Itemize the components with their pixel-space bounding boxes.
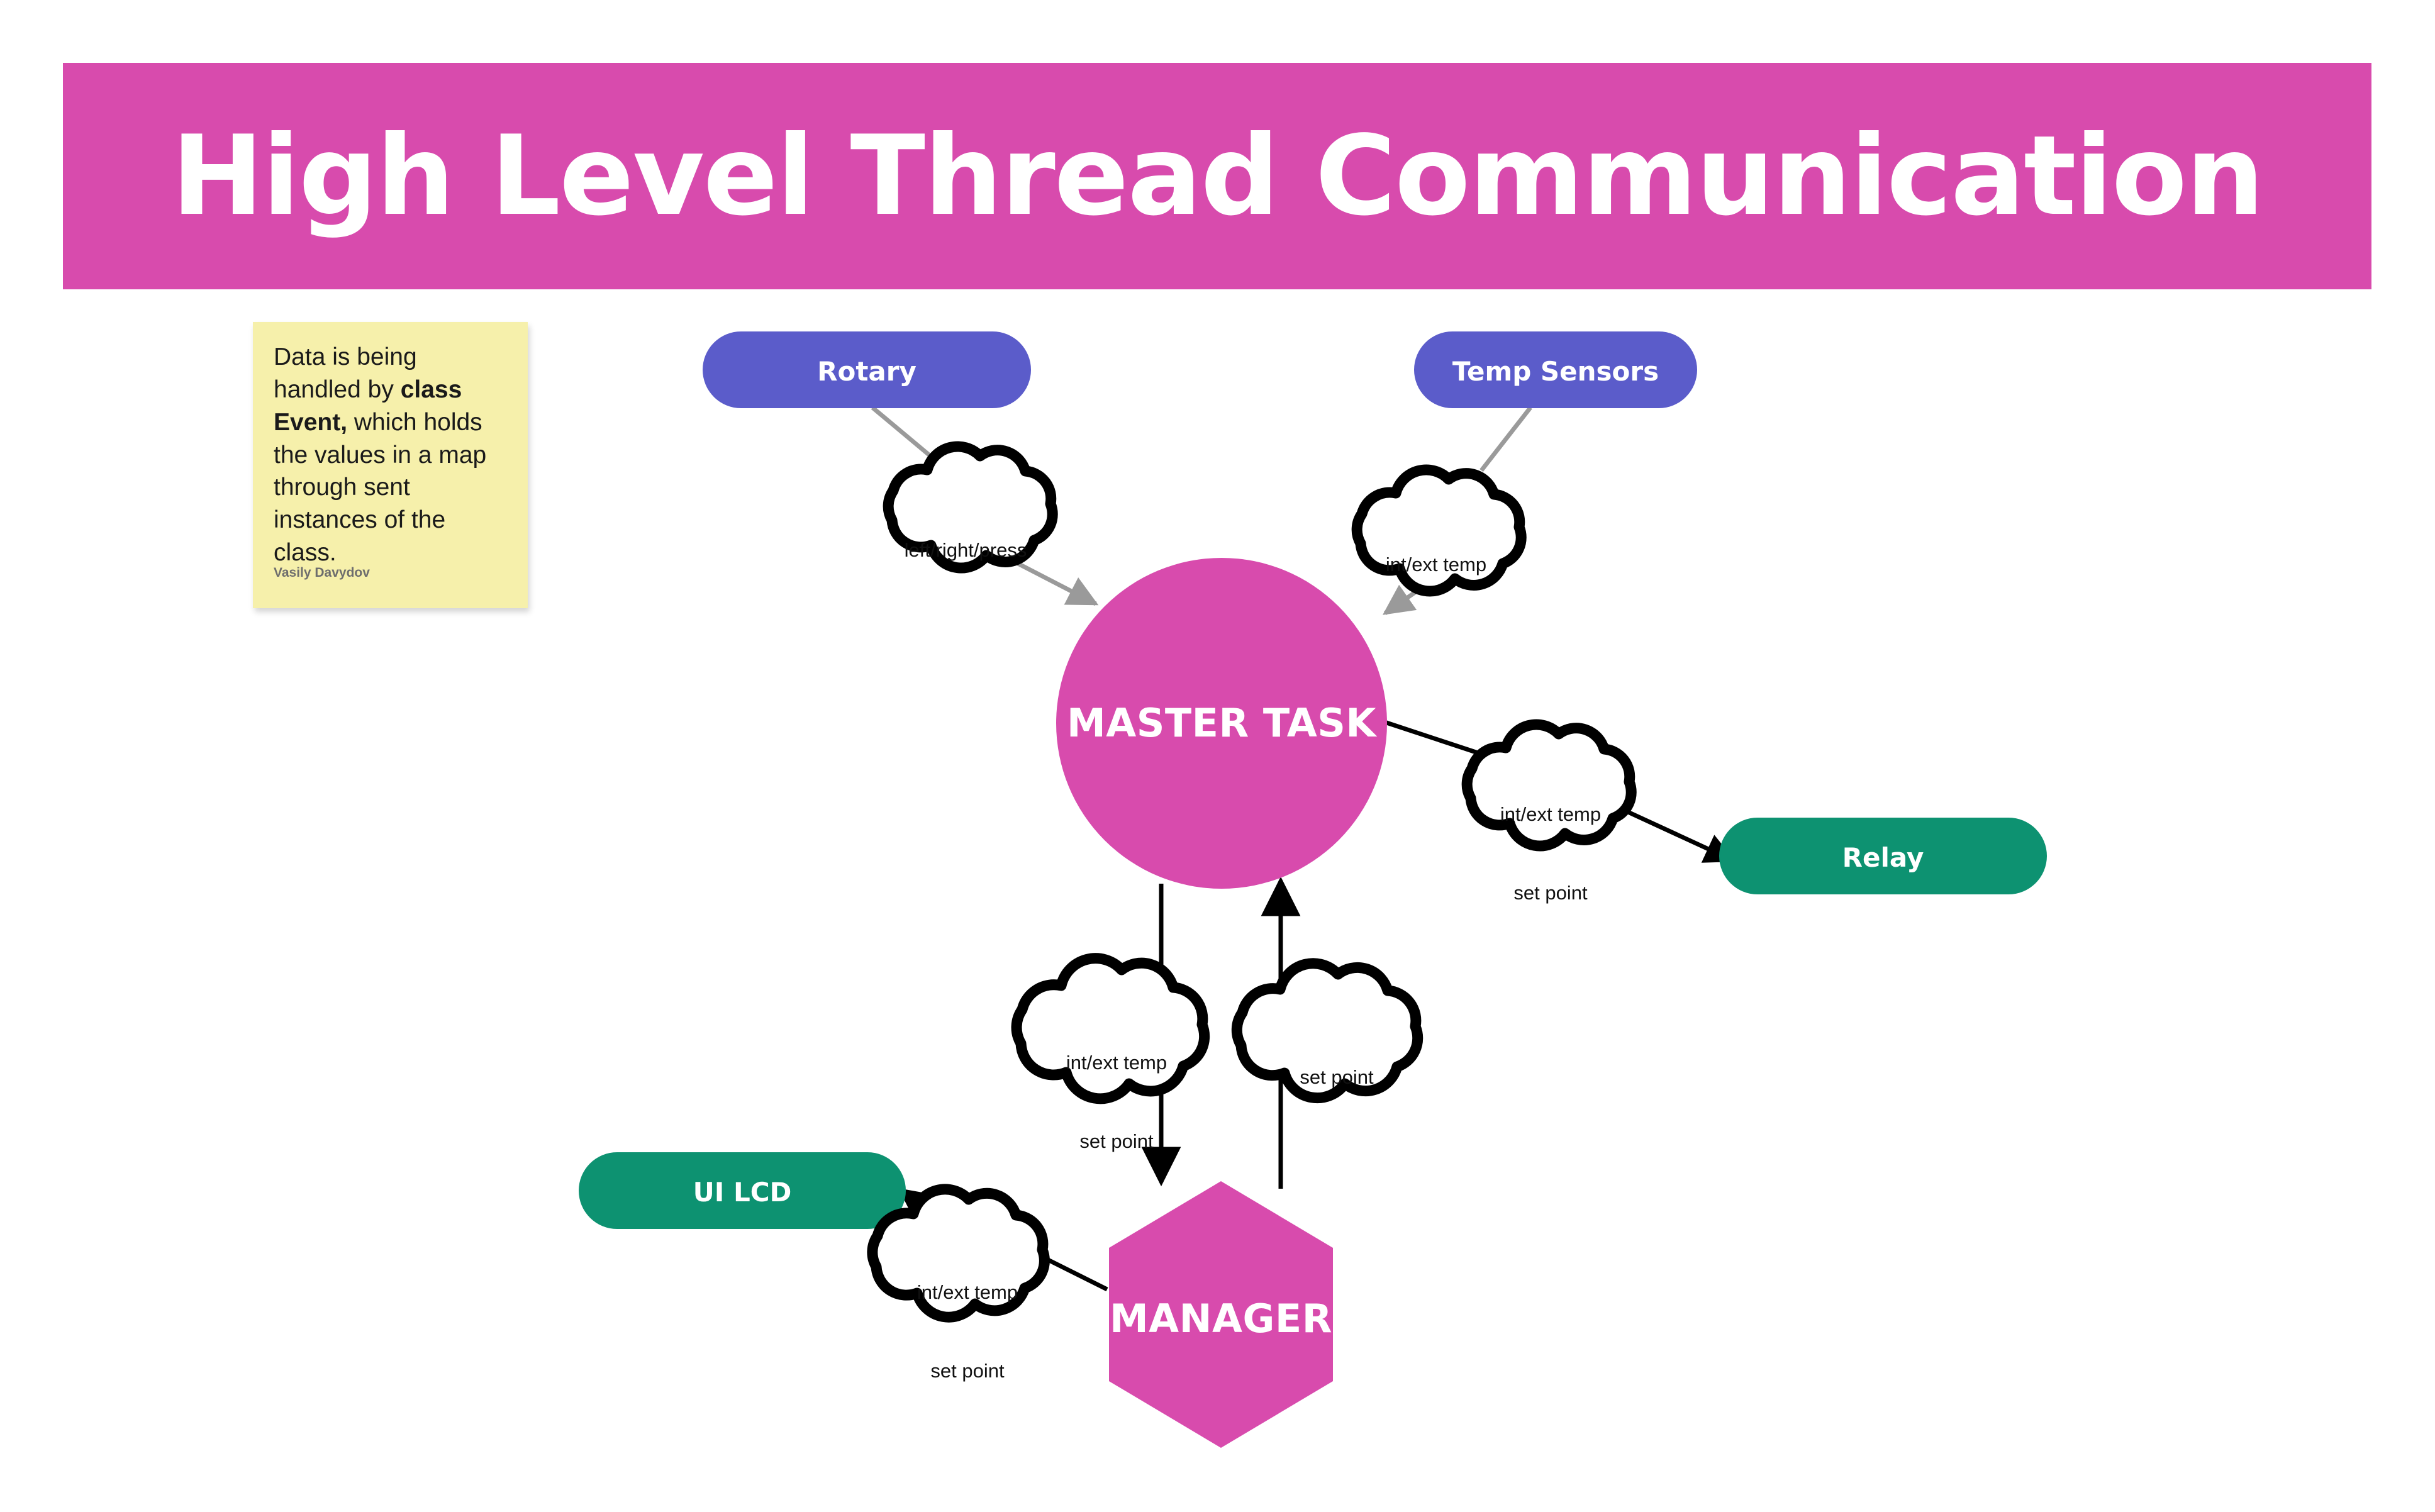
cloud-master-to-relay	[1467, 725, 1631, 846]
diagram-canvas: High Level Thread Communication Data is …	[0, 0, 2435, 1512]
cloud-rotary-to-master	[888, 447, 1052, 568]
node-manager[interactable]	[1109, 1181, 1333, 1448]
cloud-temp-to-master	[1357, 470, 1521, 591]
cloud-master-to-manager	[1017, 959, 1205, 1099]
cloud-manager-to-master	[1237, 964, 1417, 1098]
node-ui-lcd[interactable]	[579, 1152, 906, 1229]
node-relay[interactable]	[1719, 818, 2047, 894]
node-temp-sensors[interactable]	[1414, 331, 1697, 408]
node-rotary[interactable]	[703, 331, 1031, 408]
node-master-task[interactable]	[1056, 558, 1387, 889]
diagram-graphics	[0, 0, 2435, 1512]
edge-relay-cloud-to-relay	[1620, 808, 1733, 860]
edge-temp-to-cloud	[1481, 408, 1530, 470]
